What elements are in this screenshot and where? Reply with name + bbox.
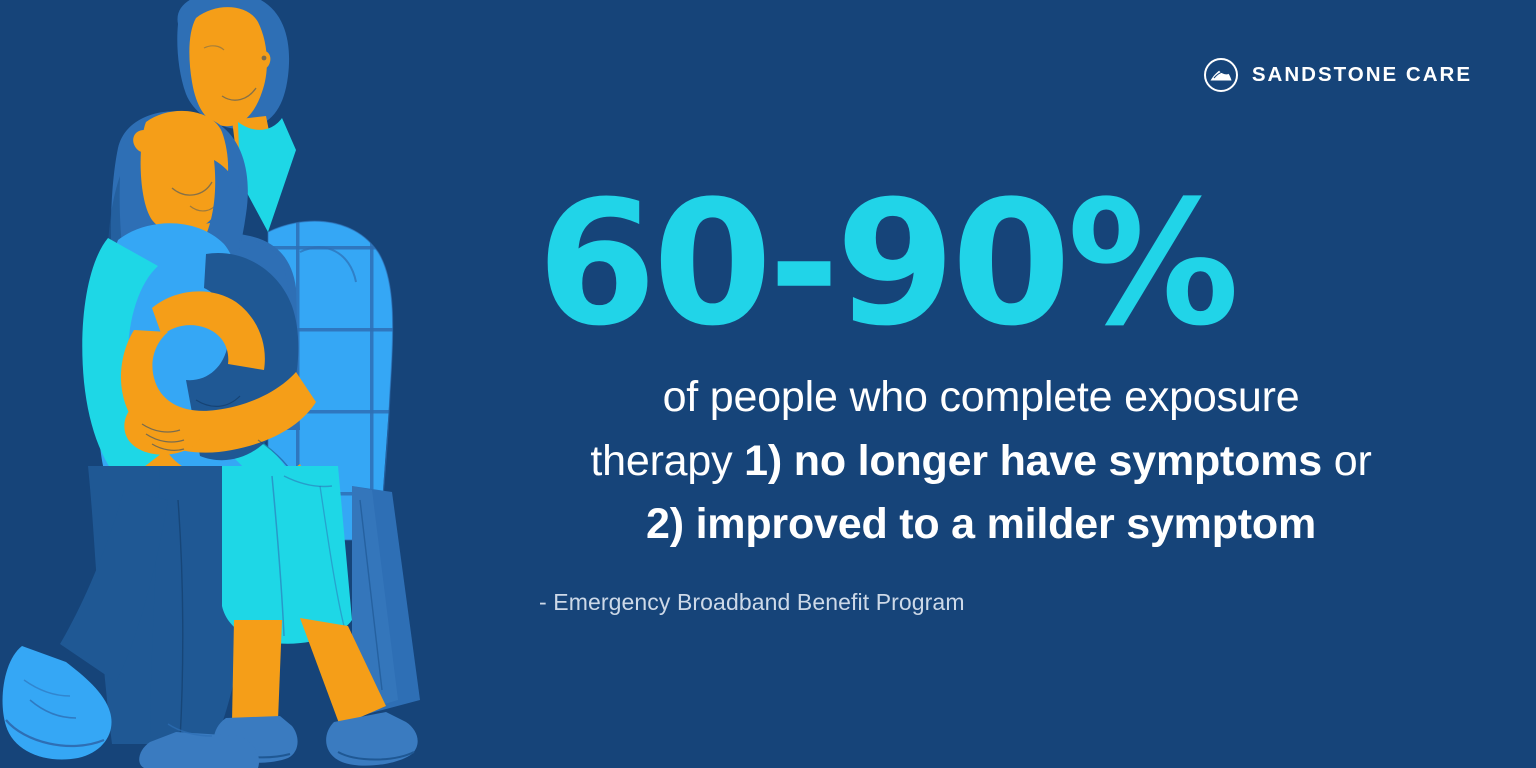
infographic-canvas: SANDSTONE CARE 60-90% of people who comp… — [0, 0, 1536, 768]
body-line-1: of people who complete exposure — [663, 373, 1300, 421]
body-line-3-bold: 2) improved to a milder symptom — [646, 500, 1316, 548]
sandstone-circle-mountain-icon — [1203, 57, 1239, 93]
body-line-2-normal-b: or — [1322, 437, 1372, 485]
stat-headline: 60-90% — [537, 184, 1437, 344]
stat-attribution: - Emergency Broadband Benefit Program — [539, 589, 1437, 616]
stat-panel: 60-90% of people who complete exposure t… — [537, 184, 1437, 616]
two-people-embracing-illustration — [0, 0, 480, 768]
brand-logo[interactable]: SANDSTONE CARE — [1203, 57, 1472, 93]
body-line-2-normal-a: therapy — [590, 437, 744, 485]
illustration-svg — [0, 0, 480, 768]
body-line-2-bold: 1) no longer have symptoms — [744, 437, 1322, 485]
brand-name: SANDSTONE CARE — [1252, 65, 1472, 86]
stat-body-copy: of people who complete exposure therapy … — [537, 366, 1425, 557]
